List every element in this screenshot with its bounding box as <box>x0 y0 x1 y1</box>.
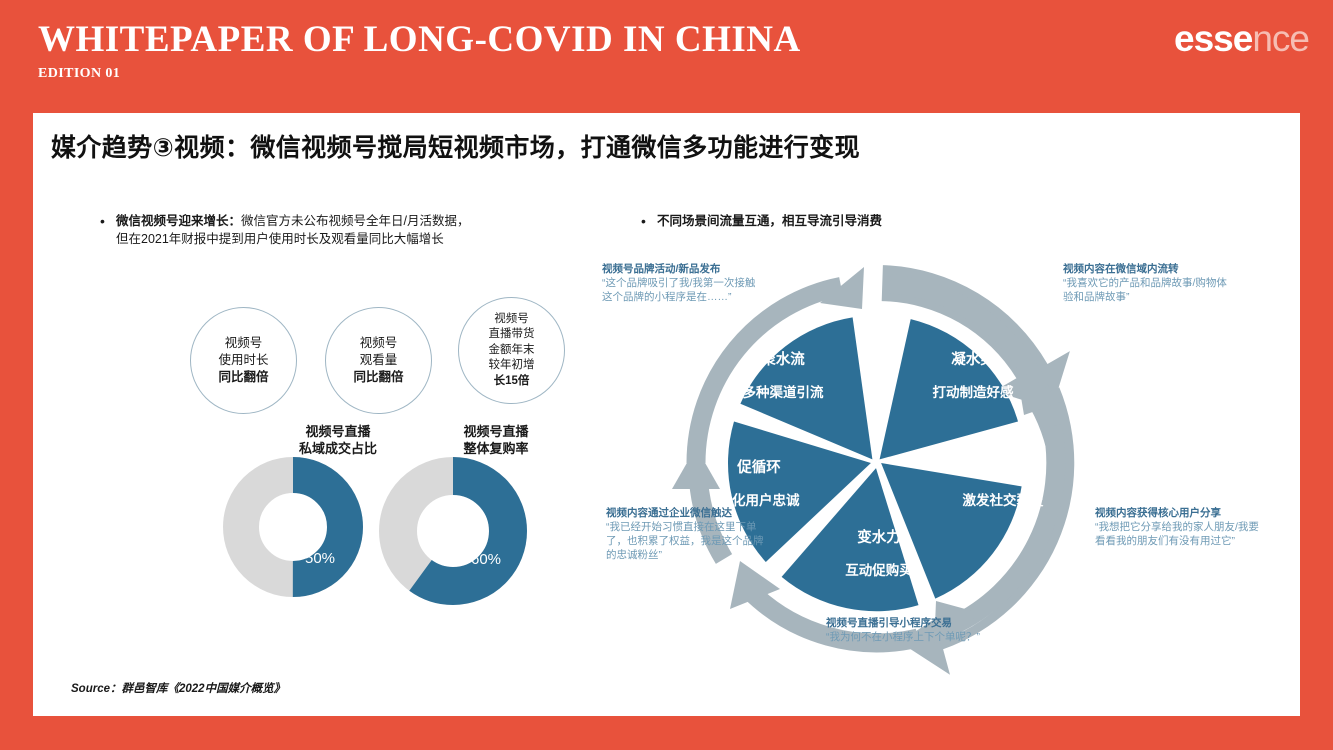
marketing-funnel-wheel: 凝水势 打动制造好感 激水花 激发社交裂变 变水力 互动促购买 促循环 深化用户… <box>608 248 1288 708</box>
annotation-quote: “我想把它分享给我的家人朋友/我要看看我的朋友们有没有用过它” <box>1095 520 1260 548</box>
bullet-lead: 微信视频号迎来增长： <box>116 214 241 228</box>
stat-circle-usage-time: 视频号 使用时长 同比翻倍 <box>190 307 297 414</box>
donut-title-line-1: 视频号直播 <box>463 424 528 439</box>
bullet-marker: • <box>641 213 657 230</box>
annotation-bottom-right: 视频内容获得核心用户分享 “我想把它分享给我的家人朋友/我要看看我的朋友们有没有… <box>1095 506 1260 548</box>
stat-line-1: 视频号 <box>225 336 263 350</box>
annotation-top-right: 视频内容在微信域内流转 “我喜欢它的产品和品牌故事/购物体验和品牌故事” <box>1063 262 1228 304</box>
stat-line-4: 较年初增 <box>489 359 535 371</box>
annotation-top-left: 视频号品牌活动/新品发布 “这个品牌吸引了我/我第一次接触这个品牌的小程序是在…… <box>602 262 762 304</box>
donut-value-label: 50% <box>305 550 335 567</box>
edition-label: EDITION 01 <box>38 66 120 82</box>
wheel-segments <box>728 317 1022 611</box>
slide-header: WHITEPAPER OF LONG-COVID IN CHINA EDITIO… <box>0 0 1333 103</box>
stat-line-3: 金额年末 <box>489 344 535 356</box>
bullet-text: 微信视频号迎来增长：微信官方未公布视频号全年日/月活数据，但在2021年财报中提… <box>116 213 470 248</box>
bullet-marker: • <box>100 213 116 230</box>
annotation-heading: 视频号直播引导小程序交易 <box>826 616 996 630</box>
page-title: WHITEPAPER OF LONG-COVID IN CHINA <box>38 18 801 61</box>
donut-svg <box>223 457 363 597</box>
stat-circle-text: 视频号 直播带货 金额年末 较年初增 长15倍 <box>489 312 535 390</box>
stat-line-2: 观看量 <box>360 353 398 367</box>
stat-circle-text: 视频号 使用时长 同比翻倍 <box>218 335 268 386</box>
stat-circle-text: 视频号 观看量 同比翻倍 <box>353 335 403 386</box>
stat-line-1: 视频号 <box>360 336 398 350</box>
stat-highlight: 同比翻倍 <box>218 370 268 384</box>
annotation-quote: “我已经开始习惯直接在这里下单了，也积累了权益，我是这个品牌的忠诚粉丝” <box>606 520 766 562</box>
annotation-bottom-left: 视频内容通过企业微信触达 “我已经开始习惯直接在这里下单了，也积累了权益，我是这… <box>606 506 766 562</box>
bullet-item-traffic: • 不同场景间流量互通，相互导流引导消费 <box>641 213 971 231</box>
donut-chart-repurchase: 视频号直播 整体复购率 60% <box>343 423 563 603</box>
annotation-heading: 视频号品牌活动/新品发布 <box>602 262 762 276</box>
annotation-quote: “这个品牌吸引了我/我第一次接触这个品牌的小程序是在……” <box>602 276 762 304</box>
stat-line-1: 视频号 <box>494 313 529 325</box>
annotation-heading: 视频内容在微信域内流转 <box>1063 262 1228 276</box>
annotation-heading: 视频内容获得核心用户分享 <box>1095 506 1260 520</box>
slide-content-card: 媒介趋势③视频：微信视频号搅局短视频市场，打通微信多功能进行变现 • 微信视频号… <box>33 113 1300 716</box>
stat-line-2: 直播带货 <box>489 328 535 340</box>
essence-logo: essence <box>1174 20 1309 57</box>
annotation-heading: 视频内容通过企业微信触达 <box>606 506 766 520</box>
stat-line-2: 使用时长 <box>218 353 268 367</box>
annotation-bottom-center: 视频号直播引导小程序交易 “我为何不在小程序上下个单呢？” <box>826 616 996 644</box>
bullet-item-growth: • 微信视频号迎来增长：微信官方未公布视频号全年日/月活数据，但在2021年财报… <box>100 213 470 248</box>
donut-title-line-2: 整体复购率 <box>463 441 528 456</box>
logo-bold-part: esse <box>1174 18 1252 59</box>
stat-highlight: 同比翻倍 <box>353 370 403 384</box>
slide-heading: 媒介趋势③视频：微信视频号搅局短视频市场，打通微信多功能进行变现 <box>51 128 860 164</box>
logo-light-part: nce <box>1252 18 1309 59</box>
annotation-quote: “我为何不在小程序上下个单呢？” <box>826 630 996 644</box>
source-citation: Source：群邑智库《2022中国媒介概览》 <box>71 680 285 696</box>
bullet-text: 不同场景间流量互通，相互导流引导消费 <box>657 213 882 231</box>
donut-svg <box>378 456 528 606</box>
stat-circle-gmv: 视频号 直播带货 金额年末 较年初增 长15倍 <box>458 297 565 404</box>
stat-circle-views: 视频号 观看量 同比翻倍 <box>325 307 432 414</box>
slide-background: WHITEPAPER OF LONG-COVID IN CHINA EDITIO… <box>0 0 1333 750</box>
donut-value-label: 60% <box>471 551 501 568</box>
stat-highlight: 长15倍 <box>494 375 530 387</box>
annotation-quote: “我喜欢它的产品和品牌故事/购物体验和品牌故事” <box>1063 276 1228 304</box>
donut-chart-title: 视频号直播 整体复购率 <box>421 423 571 457</box>
